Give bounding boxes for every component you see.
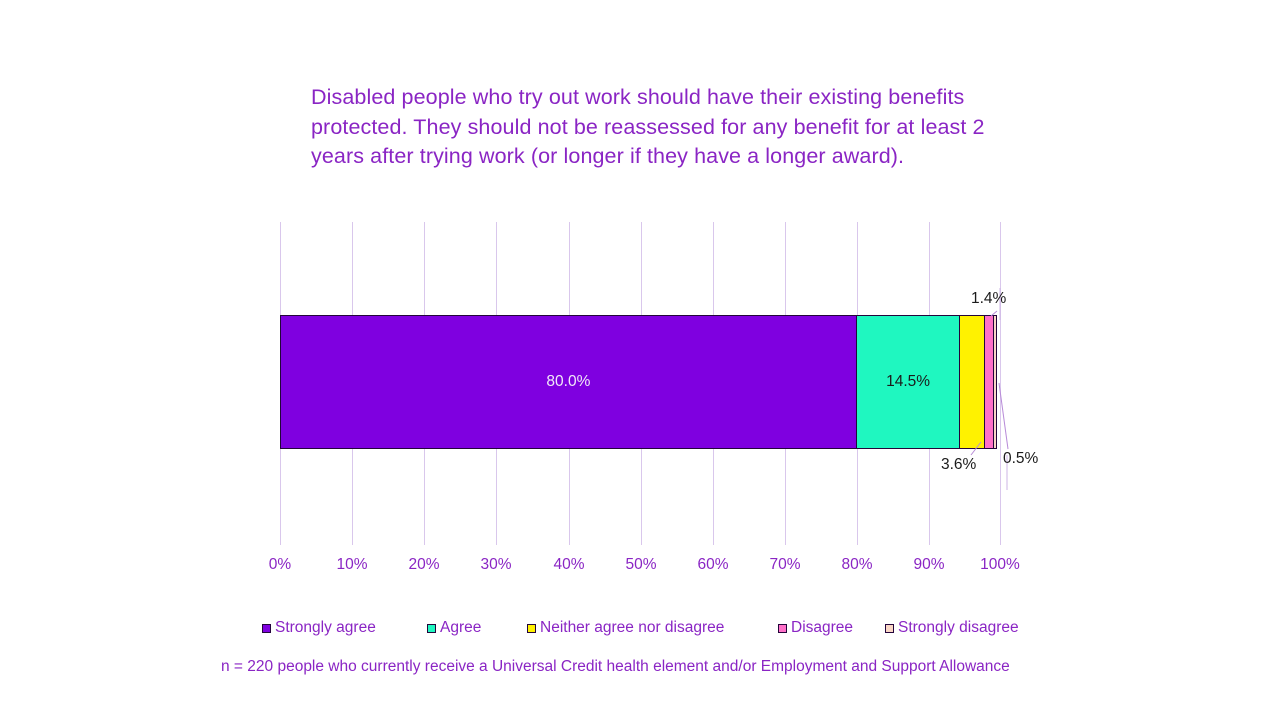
bar-segment-label-neither-agree-nor-disagree: 3.6% (941, 456, 976, 474)
bar-segment-label-strongly-disagree: 0.5% (1003, 450, 1038, 468)
chart-footnote: n = 220 people who currently receive a U… (221, 658, 1010, 676)
bar-segment-agree[interactable]: 14.5% (856, 315, 961, 449)
bar-segment-strongly-disagree[interactable] (993, 315, 997, 449)
legend-swatch-icon (527, 624, 536, 633)
x-tick-label: 100% (980, 556, 1020, 574)
chart-legend: Strongly agree Agree Neither agree nor d… (262, 620, 1052, 642)
x-tick-label: 60% (697, 556, 728, 574)
legend-label: Neither agree nor disagree (540, 620, 724, 636)
x-tick-label: 10% (336, 556, 367, 574)
legend-swatch-icon (885, 624, 894, 633)
bar-segment-label-disagree: 1.4% (971, 290, 1006, 308)
bar-segment-label-agree: 14.5% (886, 373, 930, 391)
legend-label: Strongly disagree (898, 620, 1019, 636)
bar-segment-neither-agree-nor-disagree[interactable] (959, 315, 985, 449)
legend-swatch-icon (778, 624, 787, 633)
legend-swatch-icon (262, 624, 271, 633)
chart-title: Disabled people who try out work should … (311, 83, 991, 172)
x-tick-label: 30% (480, 556, 511, 574)
legend-item-disagree[interactable]: Disagree (778, 620, 853, 636)
legend-swatch-icon (427, 624, 436, 633)
legend-item-strongly-disagree[interactable]: Strongly disagree (885, 620, 1019, 636)
x-tick-label: 70% (769, 556, 800, 574)
legend-item-agree[interactable]: Agree (427, 620, 481, 636)
stacked-bar: 80.0% 14.5% (280, 315, 1001, 449)
x-tick-label: 50% (625, 556, 656, 574)
legend-label: Strongly agree (275, 620, 376, 636)
legend-label: Agree (440, 620, 481, 636)
x-tick-label: 90% (913, 556, 944, 574)
x-tick-label: 0% (269, 556, 291, 574)
x-tick-label: 20% (408, 556, 439, 574)
bar-segment-strongly-agree[interactable]: 80.0% (280, 315, 857, 449)
x-tick-label: 40% (553, 556, 584, 574)
legend-item-strongly-agree[interactable]: Strongly agree (262, 620, 376, 636)
legend-item-neither-agree-nor-disagree[interactable]: Neither agree nor disagree (527, 620, 724, 636)
legend-label: Disagree (791, 620, 853, 636)
bar-segment-label-strongly-agree: 80.0% (546, 373, 590, 391)
x-axis: 0% 10% 20% 30% 40% 50% 60% 70% 80% 90% 1… (280, 556, 1001, 578)
x-tick-label: 80% (841, 556, 872, 574)
